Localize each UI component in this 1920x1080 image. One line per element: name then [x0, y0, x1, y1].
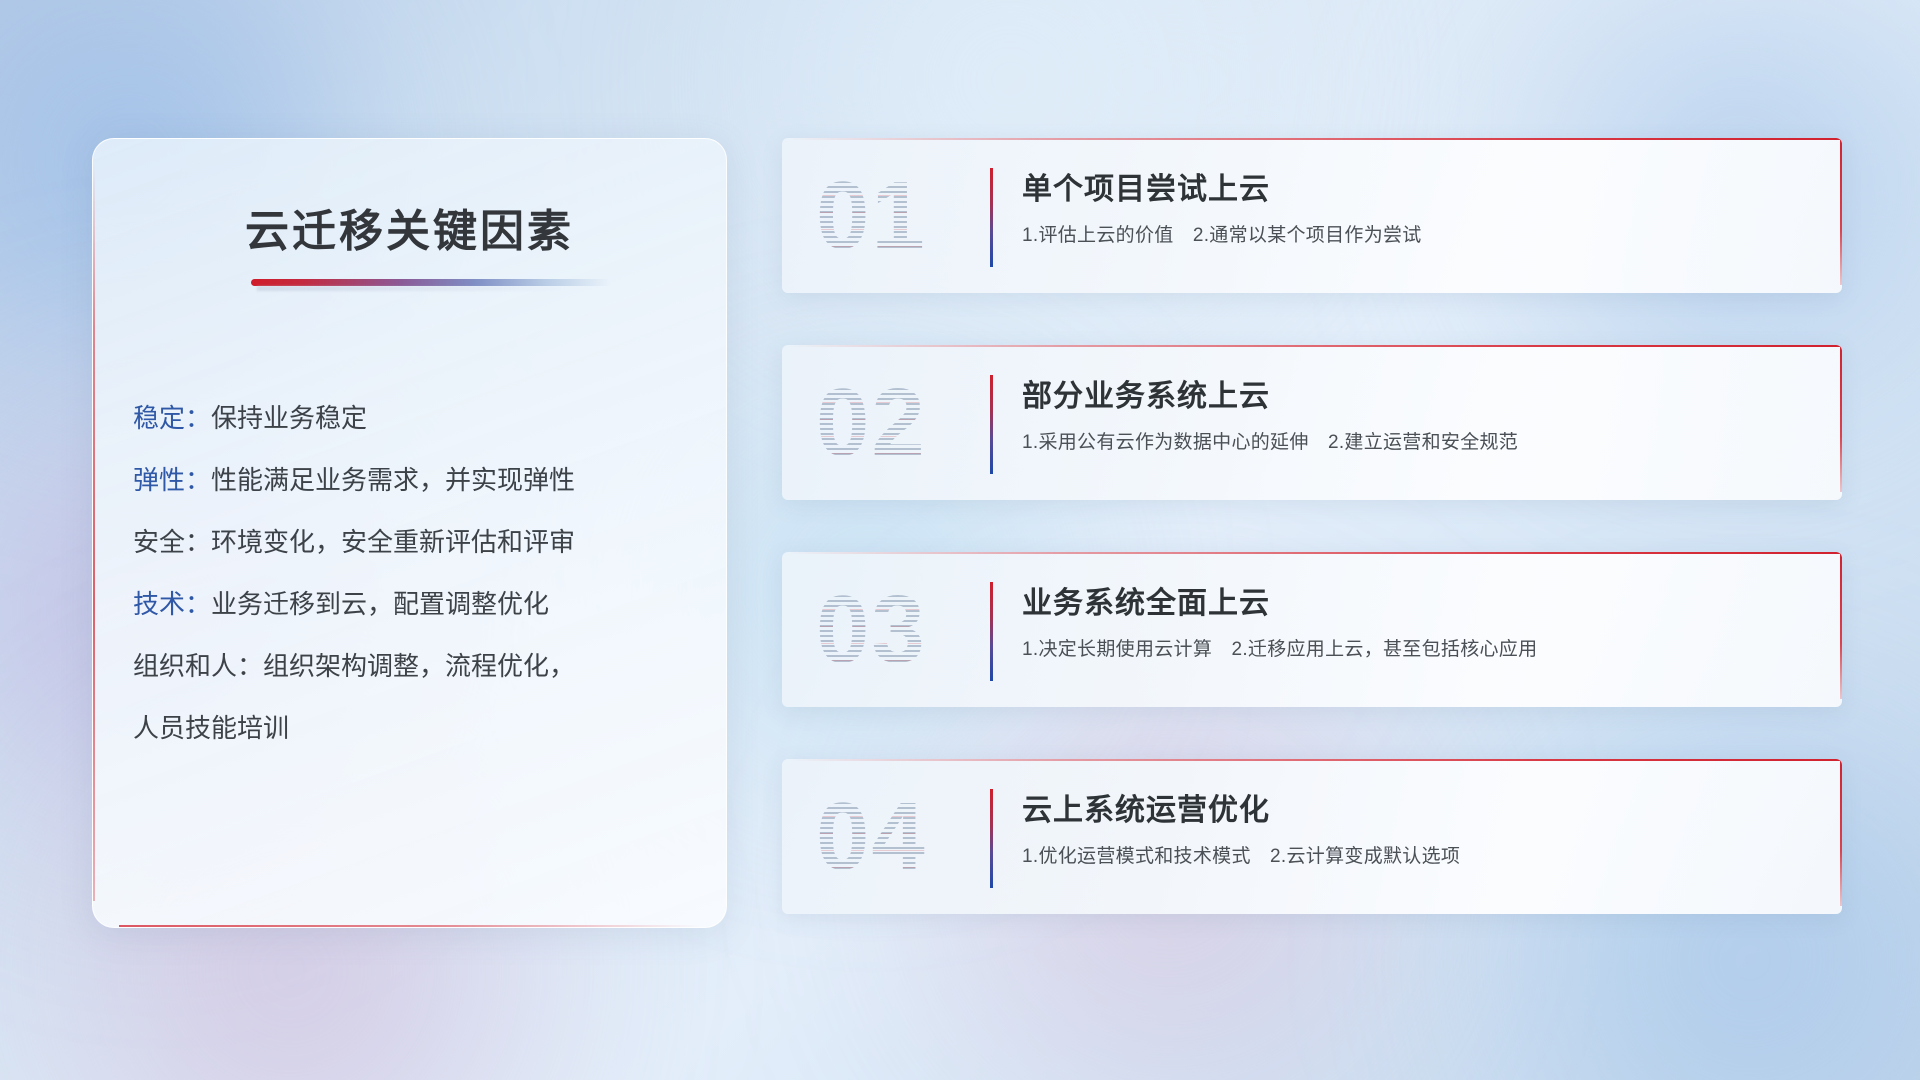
step-card-02[interactable]: 02 02 部分业务系统上云 1.采用公有云作为数据中心的延伸 2.建立运营和安…	[782, 345, 1842, 500]
key-factors-list: 稳定：保持业务稳定 弹性：性能满足业务需求，并实现弹性 安全：环境变化，安全重新…	[133, 387, 692, 759]
factor-value: 组织架构调整，流程优化，	[263, 651, 575, 681]
list-item: 弹性：性能满足业务需求，并实现弹性	[133, 449, 692, 511]
step-content: 单个项目尝试上云 1.评估上云的价值 2.通常以某个项目作为尝试	[1022, 164, 1812, 247]
step-title: 云上系统运营优化	[1022, 785, 1812, 829]
step-card-01[interactable]: 01 01 单个项目尝试上云 1.评估上云的价值 2.通常以某个项目作为尝试	[782, 138, 1842, 293]
step-card-04[interactable]: 04 04 云上系统运营优化 1.优化运营模式和技术模式 2.云计算变成默认选项	[782, 759, 1842, 914]
factor-value: 业务迁移到云，配置调整优化	[211, 589, 549, 619]
step-card-03[interactable]: 03 03 业务系统全面上云 1.决定长期使用云计算 2.迁移应用上云，甚至包括…	[782, 552, 1842, 707]
step-description: 1.决定长期使用云计算 2.迁移应用上云，甚至包括核心应用	[1022, 634, 1812, 661]
list-item: 安全：环境变化，安全重新评估和评审	[133, 511, 692, 573]
step-description: 1.优化运营模式和技术模式 2.云计算变成默认选项	[1022, 841, 1812, 868]
factor-value: 保持业务稳定	[211, 403, 367, 433]
slide-stage: 云迁移关键因素 稳定：保持业务稳定 弹性：性能满足业务需求，并实现弹性 安全：环…	[0, 0, 1920, 1080]
step-divider-accent	[990, 168, 993, 267]
step-content: 云上系统运营优化 1.优化运营模式和技术模式 2.云计算变成默认选项	[1022, 785, 1812, 868]
factor-key: 弹性：	[133, 465, 211, 495]
step-number-watermark: 02	[816, 368, 927, 478]
step-divider-accent	[990, 582, 993, 681]
step-title: 业务系统全面上云	[1022, 578, 1812, 622]
key-factors-panel: 云迁移关键因素 稳定：保持业务稳定 弹性：性能满足业务需求，并实现弹性 安全：环…	[92, 138, 727, 928]
factor-key: 安全：	[133, 527, 211, 557]
migration-steps-list: 01 01 单个项目尝试上云 1.评估上云的价值 2.通常以某个项目作为尝试 0…	[782, 138, 1842, 914]
step-divider-accent	[990, 375, 993, 474]
step-divider-accent	[990, 789, 993, 888]
page-title: 云迁移关键因素	[93, 195, 726, 259]
factor-key: 组织和人：	[133, 651, 263, 681]
step-description: 1.评估上云的价值 2.通常以某个项目作为尝试	[1022, 220, 1812, 247]
step-number-watermark: 04	[816, 782, 927, 892]
step-number-watermark: 01	[816, 161, 927, 271]
list-item: 技术：业务迁移到云，配置调整优化	[133, 573, 692, 635]
factor-value: 人员技能培训	[133, 713, 289, 743]
step-description: 1.采用公有云作为数据中心的延伸 2.建立运营和安全规范	[1022, 427, 1812, 454]
list-item: 组织和人：组织架构调整，流程优化，	[133, 635, 692, 697]
factor-key: 稳定：	[133, 403, 211, 433]
list-item: 人员技能培训	[133, 697, 692, 759]
list-item: 稳定：保持业务稳定	[133, 387, 692, 449]
step-content: 业务系统全面上云 1.决定长期使用云计算 2.迁移应用上云，甚至包括核心应用	[1022, 578, 1812, 661]
factor-key: 技术：	[133, 589, 211, 619]
title-underline-accent	[251, 279, 611, 286]
step-title: 单个项目尝试上云	[1022, 164, 1812, 208]
factor-value: 环境变化，安全重新评估和评审	[211, 527, 575, 557]
step-content: 部分业务系统上云 1.采用公有云作为数据中心的延伸 2.建立运营和安全规范	[1022, 371, 1812, 454]
step-number-watermark: 03	[816, 575, 927, 685]
factor-value: 性能满足业务需求，并实现弹性	[211, 465, 575, 495]
step-title: 部分业务系统上云	[1022, 371, 1812, 415]
